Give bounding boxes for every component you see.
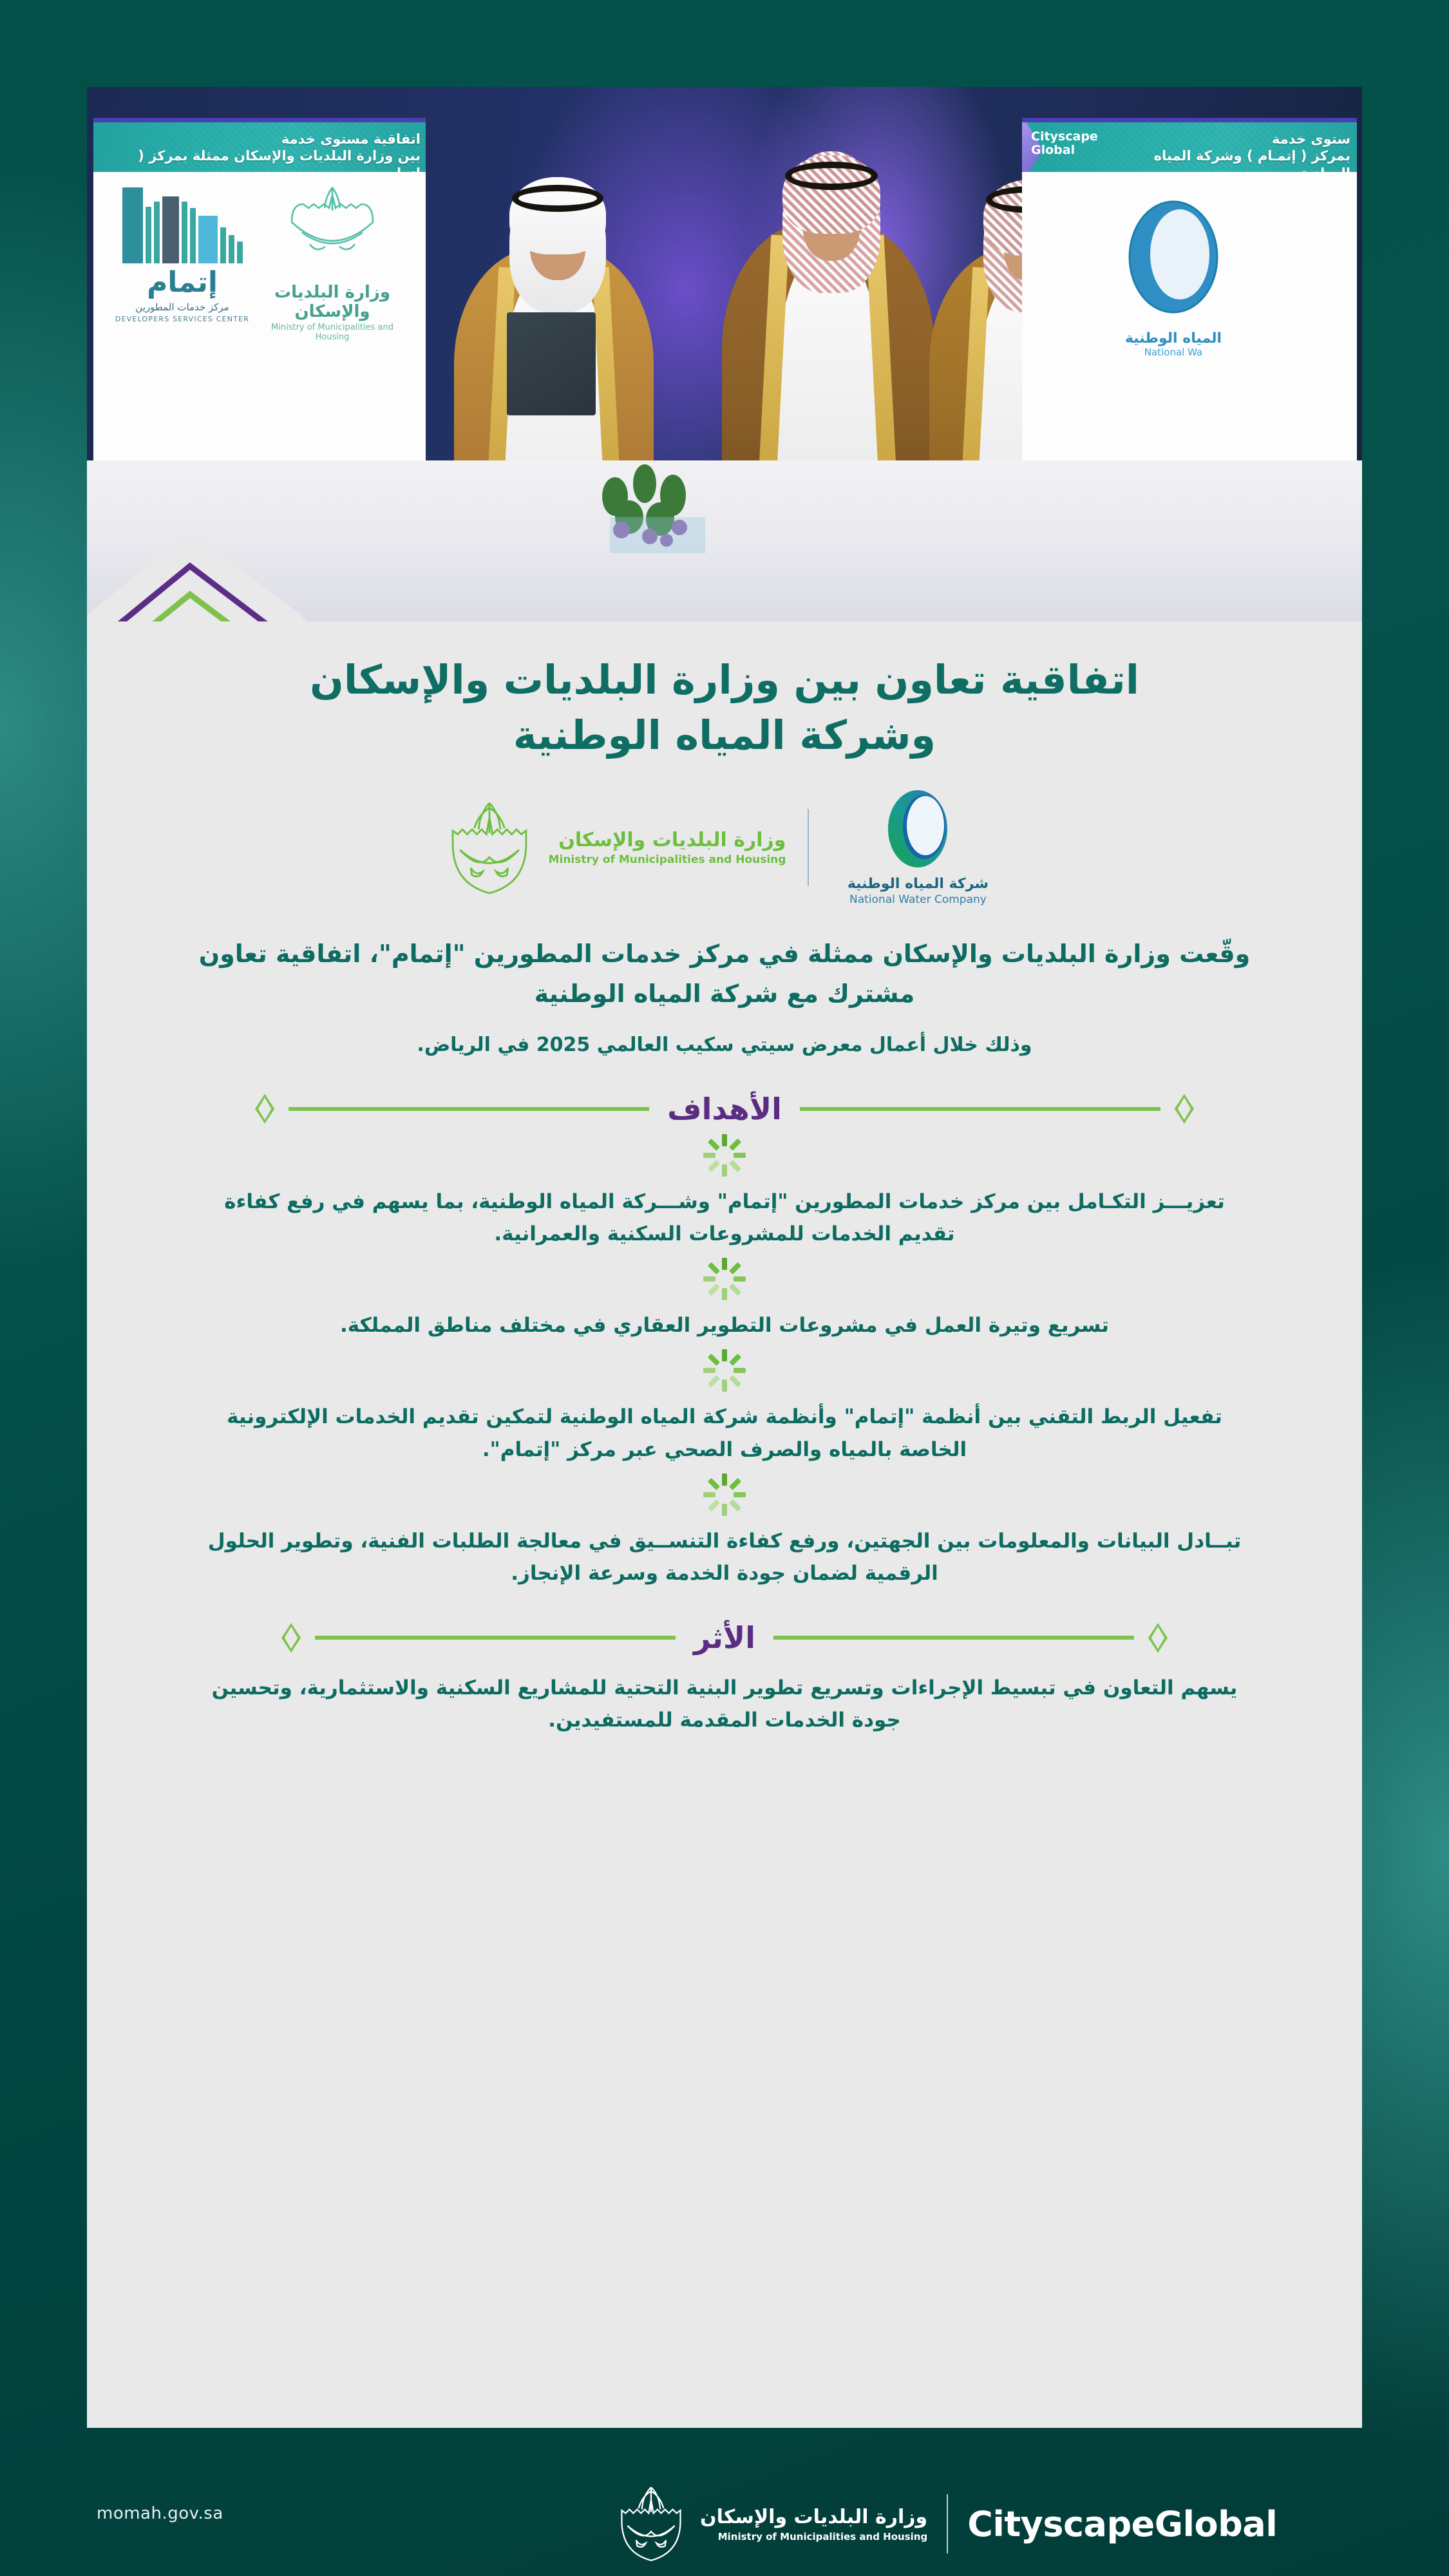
diamond-right-icon bbox=[281, 1623, 301, 1653]
etmam-english-name: DEVELOPERS SERVICES CENTER bbox=[105, 315, 260, 323]
divider-left bbox=[800, 1107, 1160, 1111]
objective-text: تبــادل البيانات والمعلومات بين الجهتين،… bbox=[196, 1525, 1253, 1589]
footer-brands: CityscapeGlobal وزارة البلديات والإسكان … bbox=[615, 2483, 1277, 2564]
footer-divider bbox=[947, 2494, 948, 2553]
objective-item: تبــادل البيانات والمعلومات بين الجهتين،… bbox=[158, 1482, 1291, 1589]
objectives-heading: الأهداف bbox=[663, 1092, 786, 1126]
sparkle-icon bbox=[708, 1358, 741, 1392]
footer-ministry-logo: وزارة البلديات والإسكان Ministry of Muni… bbox=[615, 2483, 927, 2564]
saudi-emblem-icon bbox=[615, 2483, 687, 2564]
logo-divider bbox=[808, 809, 809, 886]
divider-left bbox=[773, 1636, 1134, 1640]
intro-subtext: وذلك خلال أعمال معرض سيتي سكيب العالمي 2… bbox=[158, 1030, 1291, 1061]
page-title-line1: اتفاقية تعاون بين وزارة البلديات والإسكا… bbox=[310, 656, 1139, 703]
panel-momah-arabic: وزارة البلديات والإسكان bbox=[271, 283, 393, 321]
footer-url[interactable]: momah.gov.sa bbox=[97, 2504, 223, 2523]
footer-ministry-arabic: وزارة البلديات والإسكان bbox=[700, 2506, 927, 2528]
backdrop-panel-right: Cityscape Global ستوى خدمة بمركز ( إتمـا… bbox=[1022, 118, 1357, 478]
panel-nwc-logo: المياه الوطنية National Wa bbox=[1067, 195, 1280, 358]
objective-text: تفعيل الربط التقني بين أنظمة "إتمام" وأن… bbox=[196, 1401, 1253, 1465]
objective-item: تفعيل الربط التقني بين أنظمة "إتمام" وأن… bbox=[158, 1358, 1291, 1465]
panel-banner-right: Cityscape Global ستوى خدمة بمركز ( إتمـا… bbox=[1022, 118, 1357, 172]
sparkle-icon bbox=[708, 1482, 741, 1516]
momah-text: وزارة البلديات والإسكان Ministry of Muni… bbox=[549, 829, 786, 866]
diamond-left-icon bbox=[1148, 1623, 1168, 1653]
momah-arabic-name: وزارة البلديات والإسكان bbox=[549, 829, 786, 851]
flower-arrangement bbox=[583, 458, 731, 554]
page-footer: momah.gov.sa CityscapeGlobal وزارة البلد… bbox=[0, 2428, 1449, 2576]
divider-right bbox=[289, 1107, 649, 1111]
diamond-right-icon bbox=[255, 1094, 274, 1124]
impact-text: يسهم التعاون في تبسيط الإجراءات وتسريع ت… bbox=[196, 1672, 1253, 1736]
saudi-emblem-icon bbox=[444, 799, 535, 896]
divider-right bbox=[315, 1636, 676, 1640]
impact-heading-row: الأثر bbox=[158, 1620, 1291, 1655]
nwc-english-name: National Water Company bbox=[849, 893, 987, 906]
etmam-arabic-sub: مركز خدمات المطورين bbox=[105, 301, 260, 313]
momah-english-name: Ministry of Municipalities and Housing bbox=[549, 853, 786, 866]
nwc-circle-icon bbox=[882, 788, 954, 869]
objectives-heading-row: الأهداف bbox=[158, 1092, 1291, 1126]
sparkle-icon bbox=[708, 1267, 741, 1300]
saudi-emblem-icon bbox=[284, 182, 381, 279]
panel-banner-left-text: اتفاقية مستوى خدمة بين وزارة البلديات وا… bbox=[124, 131, 421, 172]
content-body: اتفاقية تعاون بين وزارة البلديات والإسكا… bbox=[87, 628, 1362, 1737]
partner-logos: شركة المياه الوطنية National Water Compa… bbox=[158, 788, 1291, 906]
etmam-arabic-name: إتمام bbox=[105, 266, 260, 299]
objective-item: تسريع وتيرة العمل في مشروعات التطوير الع… bbox=[158, 1267, 1291, 1341]
etmam-logo: إتمام مركز خدمات المطورين DEVELOPERS SER… bbox=[105, 187, 260, 323]
event-photo: اتفاقية مستوى خدمة بين وزارة البلديات وا… bbox=[87, 87, 1362, 621]
panel-momah-english: Ministry of Municipalities and Housing bbox=[271, 323, 393, 342]
cityscape-global-logo: CityscapeGlobal bbox=[967, 2504, 1277, 2544]
diamond-left-icon bbox=[1175, 1094, 1194, 1124]
panel-banner-left: اتفاقية مستوى خدمة بين وزارة البلديات وا… bbox=[93, 118, 426, 172]
sparkle-icon bbox=[708, 1143, 741, 1177]
momah-logo: وزارة البلديات والإسكان Ministry of Muni… bbox=[444, 799, 786, 896]
intro-paragraph: وقّعت وزارة البلديات والإسكان ممثلة في م… bbox=[158, 934, 1291, 1014]
nwc-arabic-name: شركة المياه الوطنية bbox=[848, 876, 989, 892]
objective-item: تعزيـــز التكـامل بين مركز خدمات المطوري… bbox=[158, 1143, 1291, 1250]
nwc-logo: شركة المياه الوطنية National Water Compa… bbox=[831, 788, 1005, 906]
panel-banner-right-text: ستوى خدمة بمركز ( إتمـام ) وشركة المياه … bbox=[1138, 131, 1350, 172]
objective-text: تسريع وتيرة العمل في مشروعات التطوير الع… bbox=[196, 1309, 1253, 1341]
panel-momah-logo-left: وزارة البلديات والإسكان Ministry of Muni… bbox=[271, 182, 393, 342]
page-title: اتفاقية تعاون بين وزارة البلديات والإسكا… bbox=[158, 652, 1291, 762]
backdrop-panel-left: اتفاقية مستوى خدمة بين وزارة البلديات وا… bbox=[93, 118, 426, 478]
nwc-circle-icon bbox=[1115, 195, 1231, 324]
objective-text: تعزيـــز التكـامل بين مركز خدمات المطوري… bbox=[196, 1186, 1253, 1250]
footer-ministry-text: وزارة البلديات والإسكان Ministry of Muni… bbox=[700, 2506, 927, 2543]
infographic-card: اتفاقية مستوى خدمة بين وزارة البلديات وا… bbox=[87, 87, 1362, 2428]
cityscape-logo-photo: Cityscape Global bbox=[1031, 130, 1098, 158]
impact-heading: الأثر bbox=[690, 1620, 759, 1655]
footer-ministry-english: Ministry of Municipalities and Housing bbox=[700, 2531, 927, 2543]
page-title-line2: وشركة المياه الوطنية bbox=[513, 712, 936, 759]
etmam-buildings-icon bbox=[105, 187, 260, 263]
